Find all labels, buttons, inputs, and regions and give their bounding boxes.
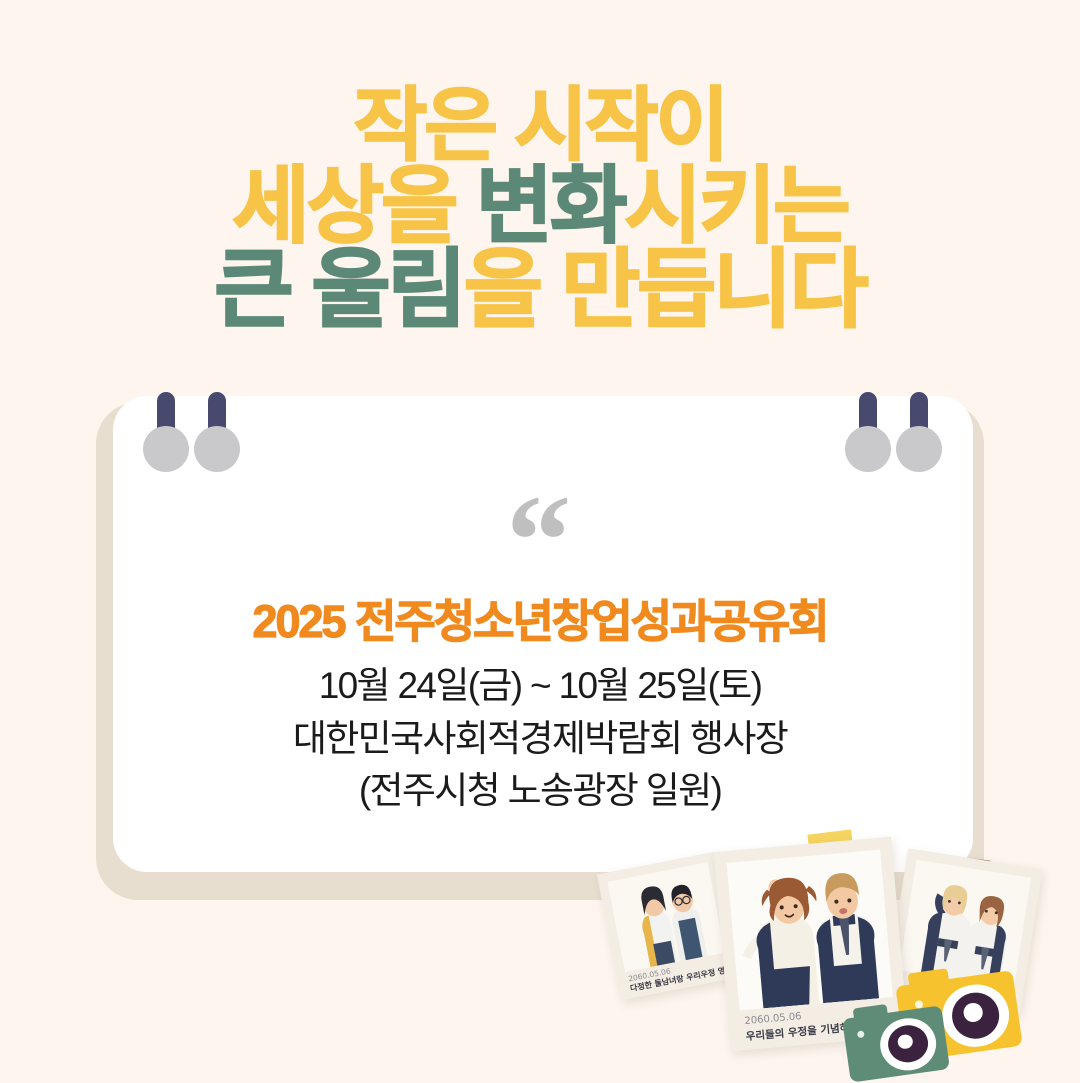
- event-venue-detail: (전주시청 노송광장 일원): [0, 765, 1080, 818]
- poster-canvas: 작은 시작이 세상을 변화시키는 큰 울림을 만듭니다 “ 2025 전주청소년…: [0, 0, 1080, 1080]
- students-illustration-left: [607, 862, 725, 972]
- event-details: 10월 24일(금) ~ 10월 25일(토) 대한민국사회적경제박람회 행사장…: [0, 660, 1080, 818]
- pin-top-left-2: [194, 392, 240, 464]
- pin-head-icon: [194, 426, 240, 472]
- headline-line-3-seg-2: 을 만듭니다: [464, 242, 866, 338]
- headline-line-2-seg-1: 세상을: [232, 159, 475, 253]
- photo-collage: 2060.05.06 다정한 둘남녀랑 우리우정 영원하: [600, 830, 1080, 1080]
- headline-line-2-seg-3: 시키는: [625, 159, 848, 253]
- pin-head-icon: [896, 426, 942, 472]
- polaroid-center-photo: [727, 850, 893, 1011]
- event-title: 2025 전주청소년창업성과공유회: [0, 585, 1080, 650]
- pin-head-icon: [845, 426, 891, 472]
- pin-top-left-1: [143, 392, 189, 464]
- pin-top-right-1: [845, 392, 891, 464]
- pin-top-right-2: [896, 392, 942, 464]
- headline-line-1-seg-1: 작은 시작이: [354, 81, 727, 170]
- students-illustration-center: [727, 850, 893, 1011]
- headline-line-2-seg-2: 변화: [476, 159, 625, 253]
- headline-line-3: 큰 울림을 만듭니다: [0, 248, 1080, 333]
- event-date-range: 10월 24일(금) ~ 10월 25일(토): [0, 660, 1080, 713]
- headline-line-3-seg-1: 큰 울림: [214, 242, 464, 338]
- camera-green-icon: [842, 1005, 950, 1082]
- event-venue: 대한민국사회적경제박람회 행사장: [0, 713, 1080, 766]
- headline: 작은 시작이 세상을 변화시키는 큰 울림을 만듭니다: [0, 86, 1080, 333]
- headline-line-1: 작은 시작이: [0, 86, 1080, 165]
- pin-head-icon: [143, 426, 189, 472]
- polaroid-left-photo: [607, 862, 725, 972]
- headline-line-2: 세상을 변화시키는: [0, 165, 1080, 248]
